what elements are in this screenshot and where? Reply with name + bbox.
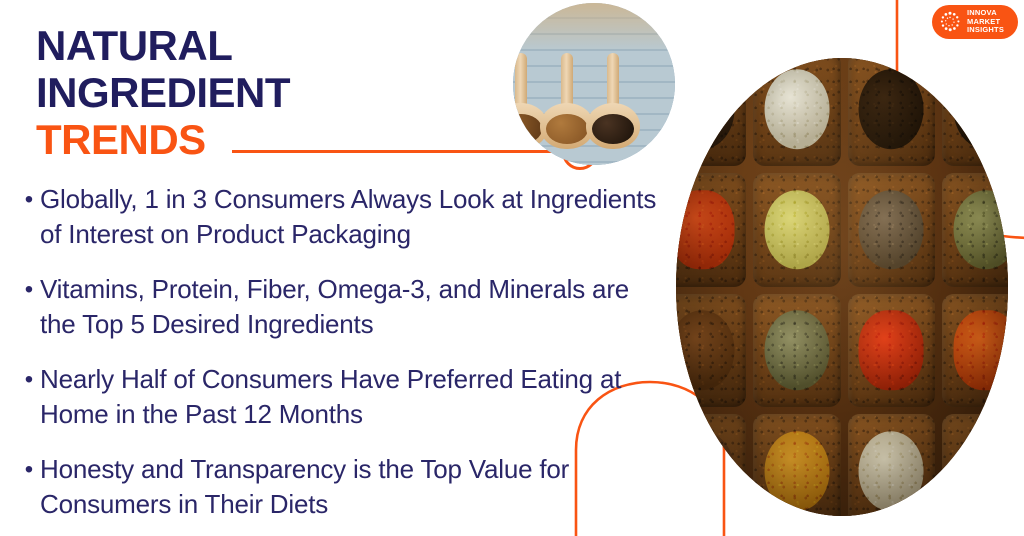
logo-line-3: INSIGHTS [967, 26, 1004, 35]
spice-tray-photo [676, 58, 1008, 516]
spice-cell-cloves [676, 58, 746, 166]
bullet-marker-icon: • [18, 362, 40, 398]
spice-cell-dried-herbs [942, 173, 1008, 287]
list-item: • Honesty and Transparency is the Top Va… [18, 452, 658, 522]
bullet-marker-icon: • [18, 272, 40, 308]
spice-cell-cinnamon-sticks [676, 414, 746, 516]
spice-cell-dark-seeds [848, 58, 936, 166]
list-item-text: Honesty and Transparency is the Top Valu… [40, 452, 658, 522]
key-findings-list: • Globally, 1 in 3 Consumers Always Look… [18, 182, 658, 536]
spice-cell-thyme [753, 294, 841, 408]
spice-cell-saffron [942, 294, 1008, 408]
spice-cell-yellow-powder [753, 173, 841, 287]
bullet-marker-icon: • [18, 452, 40, 488]
logo-wordmark: INNOVA MARKET INSIGHTS [967, 9, 1004, 35]
title-line-3: TRENDS [36, 116, 556, 163]
spice-cell-dark-seeds-2 [942, 58, 1008, 166]
list-item-text: Vitamins, Protein, Fiber, Omega-3, and M… [40, 272, 658, 342]
spice-cell-chili-flakes [676, 173, 746, 287]
list-item: • Vitamins, Protein, Fiber, Omega-3, and… [18, 272, 658, 342]
spice-cell-red-chilies [848, 294, 936, 408]
spice-cell-white-peppercorns [753, 58, 841, 166]
spice-cell-empty [942, 414, 1008, 516]
spice-cell-cinnamon-bark [676, 294, 746, 408]
spice-cell-nutmeg [848, 173, 936, 287]
title-line-1: NATURAL [36, 22, 556, 69]
list-item-text: Nearly Half of Consumers Have Preferred … [40, 362, 658, 432]
spice-tray-grid [676, 58, 1008, 516]
innova-market-insights-logo: INNOVA MARKET INSIGHTS [932, 5, 1018, 39]
list-item-text: Globally, 1 in 3 Consumers Always Look a… [40, 182, 658, 252]
wooden-spoons-spices-photo [513, 3, 675, 165]
bullet-marker-icon: • [18, 182, 40, 218]
title-line-2: INGREDIENT [36, 69, 556, 116]
list-item: • Globally, 1 in 3 Consumers Always Look… [18, 182, 658, 252]
page-title: NATURAL INGREDIENT TRENDS [36, 22, 556, 163]
list-item: • Nearly Half of Consumers Have Preferre… [18, 362, 658, 432]
spice-cell-turmeric [753, 414, 841, 516]
spice-cell-coriander-seeds [848, 414, 936, 516]
slide-canvas: NATURAL INGREDIENT TRENDS • Globally, 1 … [0, 0, 1024, 536]
innova-dot-ring-icon [938, 10, 962, 34]
